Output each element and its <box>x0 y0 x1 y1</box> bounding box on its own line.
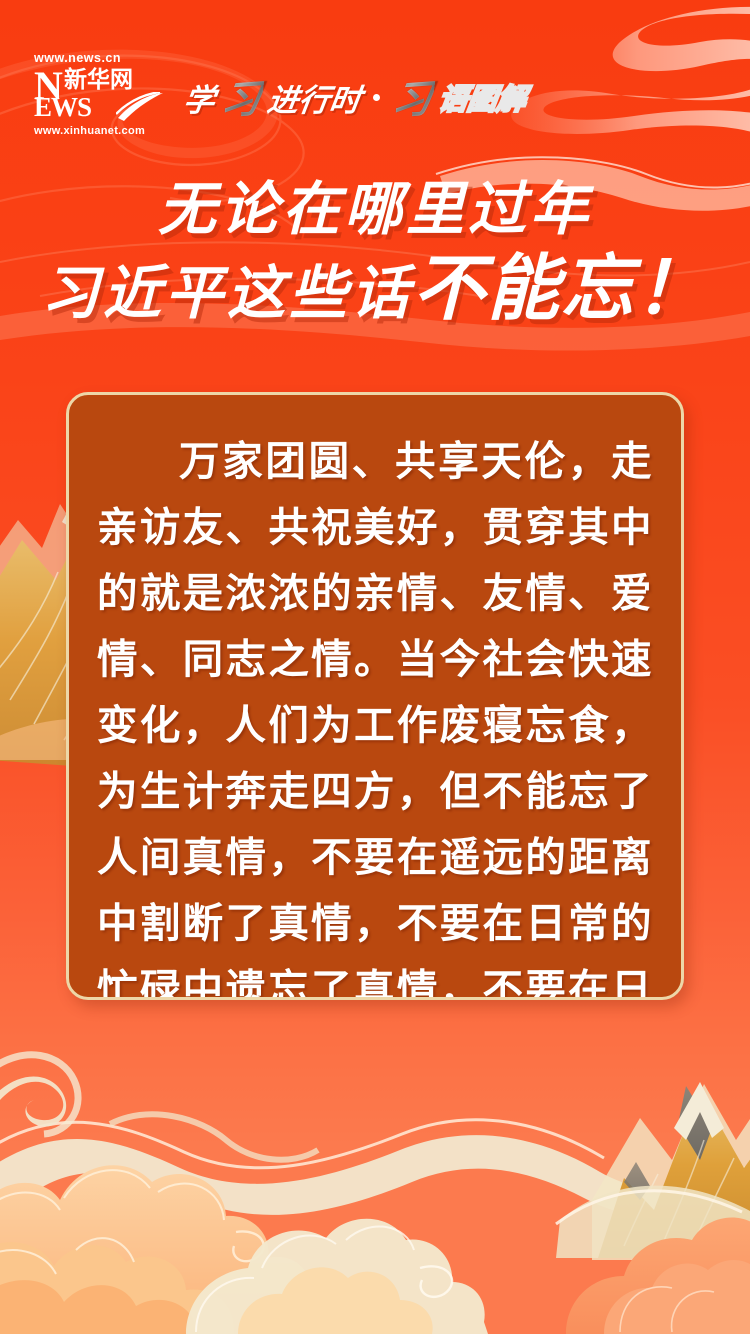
auspicious-clouds-icon <box>566 1218 750 1334</box>
logo-chinese: 新华网 <box>64 68 133 91</box>
headline-line-2-normal: 习近平这些话 <box>41 261 413 326</box>
logo-url-bottom: www.xinhuanet.com <box>34 126 162 137</box>
auspicious-clouds-icon <box>0 1165 325 1334</box>
slogan-xi-2: 习 <box>388 68 437 127</box>
page-title: 无论在哪里过年 习近平这些话不能忘！ <box>0 180 750 327</box>
logo-wordmark: N 新华网 EWS <box>34 68 162 122</box>
mountain-icon <box>556 1082 750 1260</box>
cloud-ribbon-icon <box>0 1055 318 1160</box>
headline-line-2: 习近平这些话不能忘！ <box>0 253 750 326</box>
poster-root: www.news.cn N 新华网 EWS www.xinhuanet.com … <box>0 0 750 1334</box>
slogan-separator-dot <box>373 94 380 101</box>
xinhua-logo[interactable]: www.news.cn N 新华网 EWS www.xinhuanet.com <box>34 52 162 137</box>
slogan-part-1: 学 <box>181 75 218 120</box>
swoosh-icon <box>116 92 164 122</box>
slogan-part-3: 语图解 <box>436 76 529 118</box>
quote-card: 万家团圆、共享天伦，走亲访友、共祝美好，贯穿其中的就是浓浓的亲情、友情、爱情、同… <box>66 392 684 1000</box>
headline-line-1: 无论在哪里过年 <box>0 180 750 239</box>
slogan-part-2: 进行时 <box>265 75 364 120</box>
quote-body-text: 万家团圆、共享天伦，走亲访友、共祝美好，贯穿其中的就是浓浓的亲情、友情、爱情、同… <box>97 429 653 1000</box>
cloud-ribbon-icon <box>0 1120 750 1218</box>
slogan-xi-1: 习 <box>217 68 266 127</box>
logo-letters-news: EWS <box>34 94 91 121</box>
headline-line-2-emphasis: 不能忘！ <box>413 249 709 329</box>
site-header: www.news.cn N 新华网 EWS www.xinhuanet.com … <box>34 52 526 137</box>
auspicious-clouds-icon <box>186 1219 488 1334</box>
column-slogan[interactable]: 学 习 进行时 习 语图解 <box>184 69 526 125</box>
